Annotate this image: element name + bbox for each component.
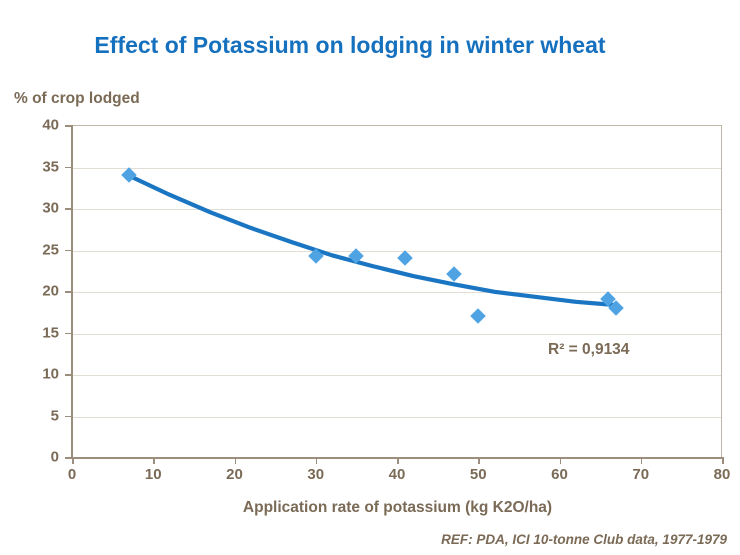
x-tick-label: 20: [205, 466, 265, 483]
y-tick-mark: [65, 208, 72, 210]
x-tick-mark: [153, 457, 155, 464]
y-tick-mark: [65, 374, 72, 376]
y-tick-label: 15: [11, 324, 59, 341]
x-tick-mark: [478, 457, 480, 464]
y-tick-mark: [65, 416, 72, 418]
x-tick-mark: [235, 457, 237, 464]
y-tick-label: 5: [11, 407, 59, 424]
y-tick-mark: [65, 250, 72, 252]
chart-figure: Effect of Potassium on lodging in winter…: [0, 0, 740, 555]
chart-title: Effect of Potassium on lodging in winter…: [0, 32, 700, 59]
x-tick-mark: [397, 457, 399, 464]
y-tick-label: 20: [11, 283, 59, 300]
y-tick-label: 10: [11, 366, 59, 383]
x-tick-label: 50: [448, 466, 508, 483]
y-tick-label: 0: [11, 449, 59, 466]
y-tick-label: 40: [11, 117, 59, 134]
x-tick-label: 40: [367, 466, 427, 483]
x-tick-label: 10: [123, 466, 183, 483]
y-tick-mark: [65, 125, 72, 127]
y-tick-mark: [65, 333, 72, 335]
trendline: [72, 125, 722, 457]
x-tick-label: 80: [692, 466, 740, 483]
x-tick-mark: [316, 457, 318, 464]
reference-note: REF: PDA, ICI 10-tonne Club data, 1977-1…: [441, 532, 727, 547]
x-tick-mark: [641, 457, 643, 464]
x-tick-label: 30: [286, 466, 346, 483]
y-tick-label: 30: [11, 200, 59, 217]
x-tick-mark: [72, 457, 74, 464]
y-tick-mark: [65, 167, 72, 169]
y-tick-mark: [65, 457, 72, 459]
y-tick-label: 25: [11, 241, 59, 258]
x-tick-label: 60: [530, 466, 590, 483]
x-tick-label: 70: [611, 466, 671, 483]
y-axis-title: % of crop lodged: [14, 90, 140, 108]
x-tick-mark: [722, 457, 724, 464]
y-tick-mark: [65, 291, 72, 293]
x-tick-label: 0: [42, 466, 102, 483]
r-squared-annotation: R² = 0,9134: [548, 341, 629, 359]
y-tick-label: 35: [11, 158, 59, 175]
x-axis-title: Application rate of potassium (kg K2O/ha…: [72, 499, 723, 517]
x-tick-mark: [560, 457, 562, 464]
